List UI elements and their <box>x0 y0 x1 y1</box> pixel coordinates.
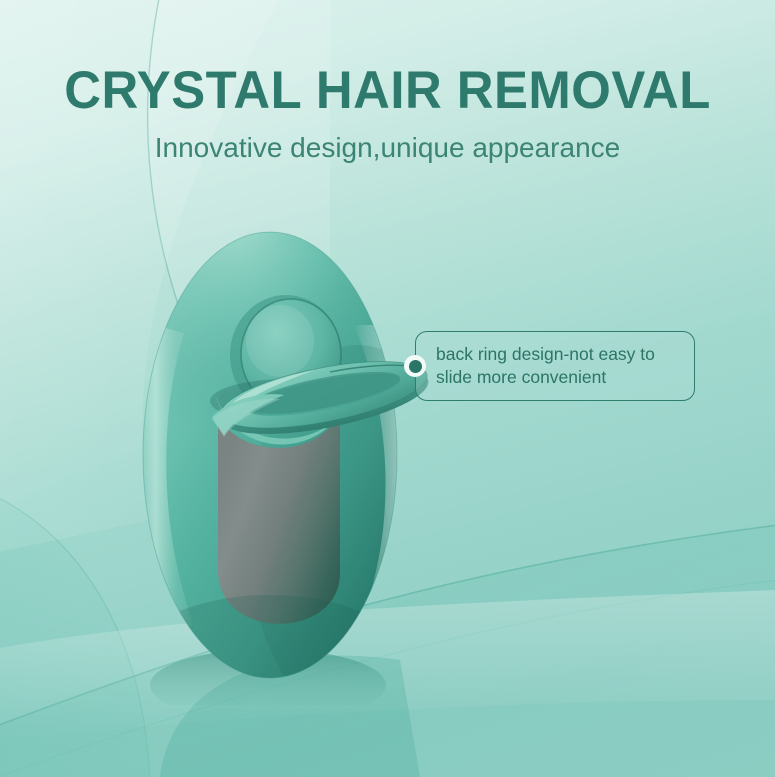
product-marketing-image: CRYSTAL HAIR REMOVAL Innovative design,u… <box>0 0 775 777</box>
callout-marker-dot <box>404 355 426 377</box>
callout-text: back ring design-not easy to slide more … <box>416 343 669 389</box>
callout-box: back ring design-not easy to slide more … <box>415 331 695 401</box>
